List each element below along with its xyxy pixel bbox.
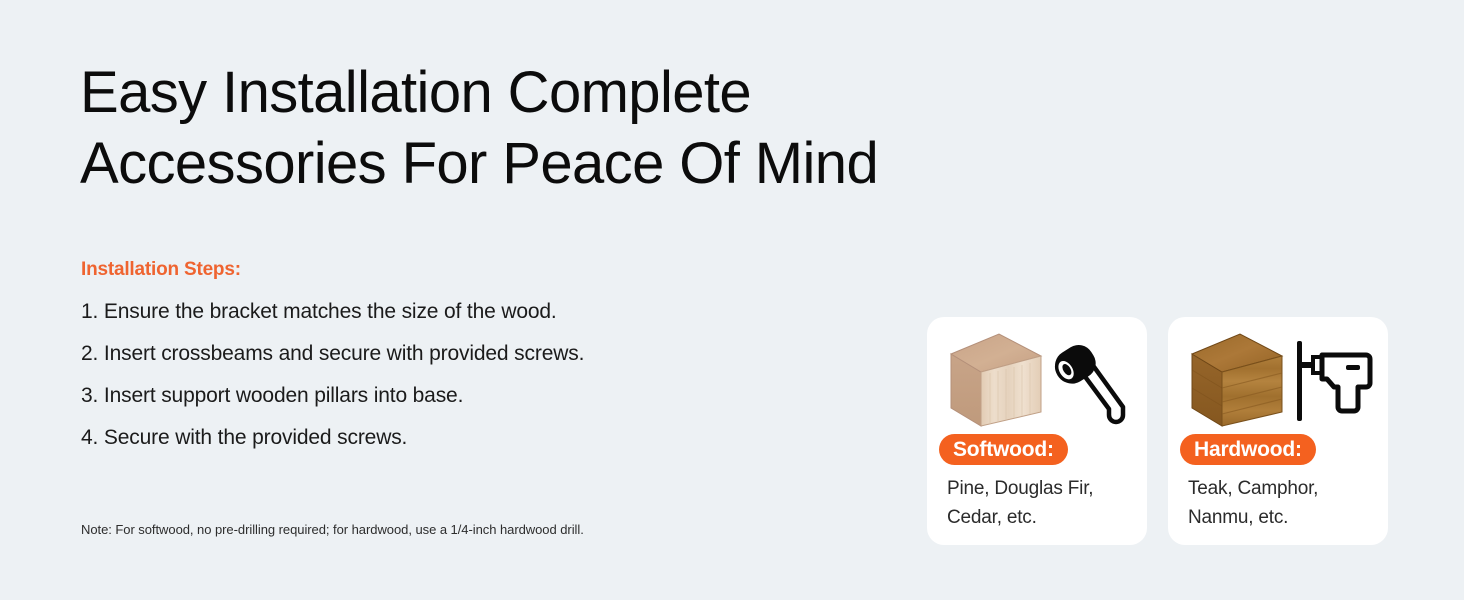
- page-title-line-1: Easy Installation Complete: [80, 57, 980, 128]
- installation-note: Note: For softwood, no pre-drilling requ…: [81, 521, 584, 538]
- list-item: 1. Ensure the bracket matches the size o…: [81, 300, 761, 324]
- promo-banner: Easy Installation Complete Accessories F…: [0, 0, 1464, 600]
- installation-steps-section: Installation Steps: 1. Ensure the bracke…: [81, 258, 761, 468]
- hardwood-card-artwork: [1168, 327, 1388, 435]
- hardwood-species-list: Teak, Camphor, Nanmu, etc.: [1188, 474, 1378, 532]
- list-item: 3. Insert support wooden pillars into ba…: [81, 384, 761, 408]
- wood-type-card-softwood: Softwood: Pine, Douglas Fir, Cedar, etc.: [927, 317, 1147, 545]
- page-title: Easy Installation Complete Accessories F…: [80, 57, 980, 199]
- installation-steps-heading: Installation Steps:: [81, 258, 761, 282]
- softwood-card-artwork: [927, 327, 1147, 435]
- list-item: 4. Secure with the provided screws.: [81, 426, 761, 450]
- light-wood-cube-icon: [947, 332, 1045, 430]
- softwood-species-line-1: Pine, Douglas Fir,: [947, 474, 1137, 503]
- softwood-species-list: Pine, Douglas Fir, Cedar, etc.: [947, 474, 1137, 532]
- wood-type-card-hardwood: Hardwood: Teak, Camphor, Nanmu, etc.: [1168, 317, 1388, 545]
- dark-wood-cube-icon: [1188, 332, 1286, 430]
- softwood-species-line-2: Cedar, etc.: [947, 503, 1137, 532]
- hardwood-species-line-2: Nanmu, etc.: [1188, 503, 1378, 532]
- page-title-line-2: Accessories For Peace Of Mind: [80, 128, 980, 199]
- list-item: 2. Insert crossbeams and secure with pro…: [81, 342, 761, 366]
- hand-screwdriver-icon: [1053, 335, 1139, 427]
- power-drill-icon: [1294, 335, 1380, 427]
- hardwood-species-line-1: Teak, Camphor,: [1188, 474, 1378, 503]
- wood-type-cards: Softwood: Pine, Douglas Fir, Cedar, etc.: [927, 317, 1393, 545]
- status-badge: Softwood:: [939, 434, 1068, 465]
- status-badge: Hardwood:: [1180, 434, 1316, 465]
